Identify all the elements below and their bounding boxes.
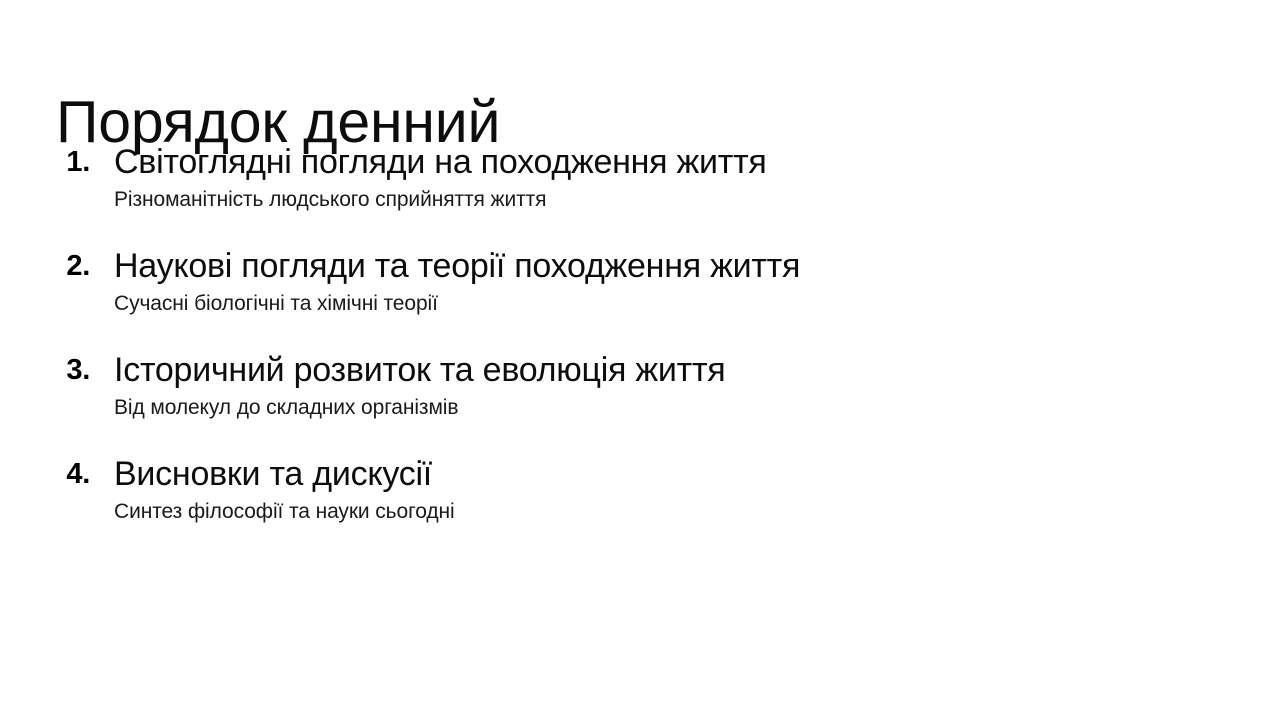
list-item-number: 2. — [56, 247, 114, 286]
list-item-body: Наукові погляди та теорії походження жит… — [114, 247, 1236, 318]
agenda-list: 1. Світоглядні погляди на походження жит… — [56, 143, 1236, 526]
list-item: 3. Історичний розвиток та еволюція життя… — [56, 351, 1236, 422]
list-item-number: 4. — [56, 455, 114, 494]
list-item: 2. Наукові погляди та теорії походження … — [56, 247, 1236, 318]
list-item-body: Історичний розвиток та еволюція життя Ві… — [114, 351, 1236, 422]
list-item-subtitle: Різноманітність людського сприйняття жит… — [114, 185, 1236, 214]
list-item: 4. Висновки та дискусії Синтез філософії… — [56, 455, 1236, 526]
list-item-number: 1. — [56, 143, 114, 182]
list-item-subtitle: Синтез філософії та науки сьогодні — [114, 497, 1236, 526]
list-item-body: Висновки та дискусії Синтез філософії та… — [114, 455, 1236, 526]
slide-canvas: Порядок денний 1. Світоглядні погляди на… — [0, 0, 1280, 720]
list-item-body: Світоглядні погляди на походження життя … — [114, 143, 1236, 214]
list-item-heading: Висновки та дискусії — [114, 455, 1236, 494]
list-item-heading: Світоглядні погляди на походження життя — [114, 143, 1236, 182]
list-item-heading: Наукові погляди та теорії походження жит… — [114, 247, 1236, 286]
list-item-subtitle: Сучасні біологічні та хімічні теорії — [114, 289, 1236, 318]
list-item: 1. Світоглядні погляди на походження жит… — [56, 143, 1236, 214]
list-item-subtitle: Від молекул до складних організмів — [114, 393, 1236, 422]
list-item-number: 3. — [56, 351, 114, 390]
list-item-heading: Історичний розвиток та еволюція життя — [114, 351, 1236, 390]
